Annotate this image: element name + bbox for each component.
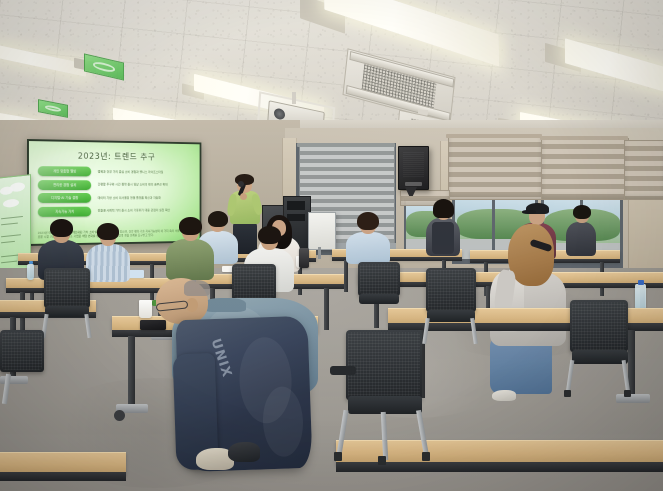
speaker-cone (403, 151, 424, 177)
attendee-hair (433, 199, 454, 218)
chair-foot-tip (334, 452, 342, 461)
blind-rail (540, 136, 628, 140)
slide-chip: 편리한 경험 설계 (38, 180, 91, 190)
chair-back (346, 330, 422, 400)
speaker-badge (405, 182, 422, 186)
chair-back (44, 268, 90, 308)
attendee-hair (50, 219, 73, 237)
chair-back (0, 330, 44, 372)
attendee-torso (166, 239, 214, 280)
chair-mesh (2, 332, 42, 370)
hair-fringe (184, 280, 210, 296)
poster-text-line (1, 234, 21, 237)
jacket-fold (262, 386, 304, 457)
shoe (228, 442, 260, 462)
desk-edge (0, 472, 126, 481)
attendee-back-dark-hair (426, 200, 460, 256)
poster-cloud-graphic (10, 182, 25, 193)
slide-desc: 데이터 기반 소비 의사결정 연결 플랫폼 확산과 자동화 (98, 196, 194, 200)
chair-back (426, 268, 476, 312)
slide-desc: 행복과 건강 가치 중심 소비 경험과 웰니스 라이프스타일 (98, 170, 194, 175)
slide-chip: 지속가능 가치 (38, 206, 91, 216)
slide-title: 2023년: 트렌드 추구 (29, 149, 200, 163)
attendee-hair (179, 217, 202, 235)
poster-text-line (1, 223, 18, 226)
slide-desc: 친환경·사회적 가치 중시 소비 기후위기 대응 관점의 실천 확산 (98, 208, 194, 213)
desk (0, 452, 126, 474)
chair-leg (422, 318, 430, 344)
slide-chip: 개인 맞춤형 웰빙 (38, 166, 91, 176)
chair-leg (381, 412, 389, 460)
cap-brim (522, 210, 536, 214)
projector-mount-pole (292, 92, 296, 104)
attendee-torso (346, 232, 390, 264)
blind-rail (446, 134, 542, 138)
chair-seat (359, 294, 399, 304)
microphone-head (238, 181, 244, 187)
chair[interactable] (418, 268, 484, 348)
chair-back (358, 262, 400, 296)
chair-mesh (572, 302, 626, 350)
chair-back (570, 300, 628, 352)
chair-mesh (360, 264, 398, 294)
chair-foot-tip (624, 390, 631, 397)
whiteboard-leg (318, 247, 321, 259)
chair[interactable] (0, 330, 56, 408)
right-window-blind[interactable] (448, 136, 542, 200)
poster-text-line (1, 261, 17, 264)
chair-leg (470, 318, 478, 344)
chair[interactable] (330, 330, 434, 460)
chair[interactable] (560, 300, 640, 400)
slide-desc: 간편함 추구와 시간 절약 중시 일상 소비의 편의 솔루션 확대 (98, 183, 194, 187)
attendee-hair (357, 212, 379, 230)
presenter-hand (240, 193, 247, 200)
chair-leg (336, 410, 348, 456)
attendee-hair (97, 223, 119, 240)
chair-leg (622, 360, 631, 394)
bottle-cap (29, 261, 33, 264)
attendee-hair (258, 226, 281, 244)
attendee-hair (573, 205, 591, 219)
blind-rail (297, 143, 395, 147)
chair-foot-tip (564, 390, 571, 397)
chair-mesh (46, 270, 88, 306)
av-rack-panel (287, 201, 305, 210)
black-tumbler (299, 248, 309, 268)
desk-caster (114, 410, 125, 421)
slide-row: 편리한 경험 설계 간편함 추구와 시간 절약 중시 일상 소비의 편의 솔루션… (38, 180, 194, 190)
chair-seat (45, 306, 89, 317)
chair-leg (84, 314, 91, 338)
attendee-left-green-shirt (166, 218, 214, 280)
chair-armrest (330, 366, 356, 375)
chair-leg (416, 410, 429, 456)
chair-seat (427, 310, 475, 322)
chair-foot-tip (422, 452, 430, 461)
chair-leg (566, 360, 575, 394)
chair-seat (572, 350, 628, 364)
slide-row: 개인 맞춤형 웰빙 행복과 건강 가치 중심 소비 경험과 웰니스 라이프스타일 (38, 166, 194, 177)
bottle-cap (638, 280, 644, 285)
chair-foot-tip (378, 456, 386, 465)
seminar-room-photo: 2023년: 트렌드 추구 개인 맞춤형 웰빙 행복과 건강 가치 중심 소비 … (0, 0, 663, 491)
chair-leg (2, 374, 11, 404)
attendee-center-right-blue (346, 212, 390, 264)
right-window-blind[interactable] (541, 138, 629, 200)
right-window-blind[interactable] (624, 140, 663, 200)
slide-row: 디지털·AI 기술 결합 데이터 기반 소비 의사결정 연결 플랫폼 확산과 자… (38, 193, 194, 203)
chair[interactable] (352, 262, 408, 324)
water-bottle (27, 264, 34, 280)
shirt-collar (204, 298, 246, 312)
wall-mounted-pa-speaker (398, 146, 429, 190)
poster-cloud-graphic (3, 198, 19, 208)
slide-row: 지속가능 가치 친환경·사회적 가치 중시 소비 기후위기 대응 관점의 실천 … (38, 206, 194, 217)
poster-text-line (1, 241, 15, 243)
desk-leg (344, 260, 348, 292)
shoe (492, 390, 516, 401)
whiteboard-on-stand (308, 212, 336, 250)
attendee-vest (432, 222, 454, 254)
projector-lens (274, 107, 286, 120)
chair-mesh (428, 270, 474, 310)
slide-bullet-rows: 개인 맞춤형 웰빙 행복과 건강 가치 중심 소비 경험과 웰니스 라이프스타일… (38, 166, 194, 220)
desk-leg (128, 336, 135, 408)
slide-chip: 디지털·AI 기술 결합 (38, 193, 91, 203)
poster-text-line (1, 216, 23, 219)
chair-mesh (348, 332, 420, 398)
